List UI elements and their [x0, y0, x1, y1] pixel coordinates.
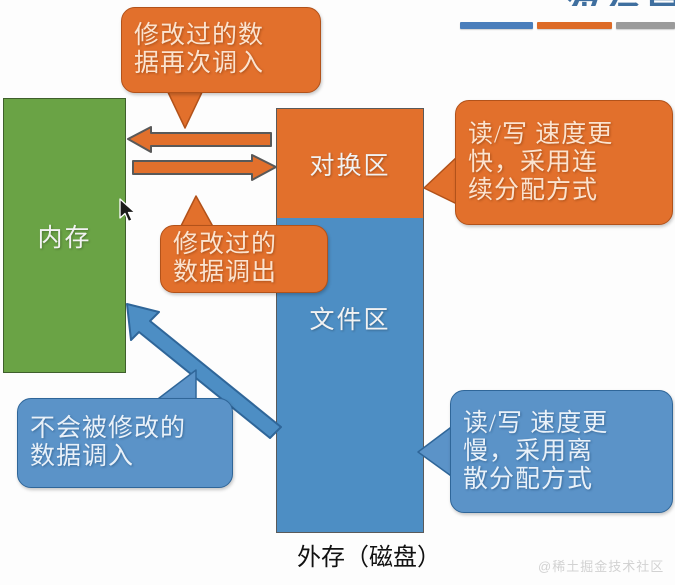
callout-file-area-speed: 读/写 速度更 慢，采用离 散分配方式: [450, 390, 673, 513]
arrow-left-swap-in: [128, 127, 271, 152]
callout-fast-line-1: 读/写 速度更: [468, 121, 660, 149]
swap-area-block: 对换区: [276, 108, 424, 218]
callout-slow-line-2: 慢，采用离: [463, 438, 660, 466]
callout-swapout-modified-data: 修改过的 数据调出: [160, 225, 328, 293]
memory-block: 内存: [3, 98, 126, 373]
slide-canvas: 次存是 内存 对换区 文件区 外存（磁盘） 修改过的数 据再次调入 修改过的 数…: [0, 0, 675, 585]
swap-area-label: 对换区: [309, 146, 390, 182]
callout-swap-area-speed: 读/写 速度更 快，采用连 续分配方式: [455, 100, 673, 225]
mouse-cursor-icon: [119, 198, 137, 224]
watermark: @稀土掘金技术社区: [538, 556, 664, 575]
header-accent-bar-orange: [537, 22, 612, 29]
arrow-right-swap-out: [133, 155, 276, 180]
callout-clean-line-2: 数据调入: [30, 443, 220, 471]
callout-clean-line-1: 不会被修改的: [30, 415, 220, 443]
callout-swapout-line-2: 数据调出: [173, 259, 315, 287]
callout-fast-line-3: 续分配方式: [468, 177, 660, 205]
callout-slow-line-1: 读/写 速度更: [463, 410, 660, 438]
callout-slow-line-3: 散分配方式: [463, 466, 660, 494]
memory-block-label: 内存: [37, 218, 91, 254]
callout-unmodified-data-load: 不会被修改的 数据调入: [17, 398, 233, 488]
callout-tail-fast: [424, 155, 459, 205]
header-accent-bar-gray: [616, 22, 675, 29]
header-accent-bar-blue: [460, 22, 533, 29]
callout-swapout-line-1: 修改过的: [173, 231, 315, 259]
file-area-label: 文件区: [309, 300, 390, 336]
callout-reload-line-1: 修改过的数: [134, 22, 308, 50]
callout-fast-line-2: 快，采用连: [468, 149, 660, 177]
callout-reload-line-2: 据再次调入: [134, 50, 308, 78]
disk-caption: 外存（磁盘）: [274, 537, 464, 572]
slide-title-fragment: 次存是: [560, 0, 675, 6]
callout-reload-modified-data: 修改过的数 据再次调入: [121, 7, 321, 93]
callout-tail-reload: [166, 88, 204, 128]
